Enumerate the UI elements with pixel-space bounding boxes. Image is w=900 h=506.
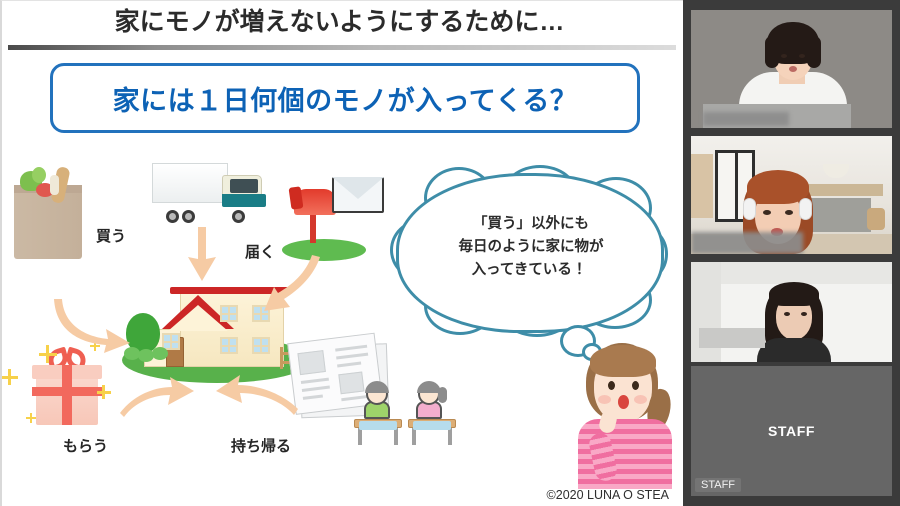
sparkle-icon (2, 376, 18, 379)
meeting-screen: 家にモノが増えないようにするために… 家には１日何個のモノが入ってくる？ (0, 0, 900, 506)
staff-center-label: STAFF (691, 423, 892, 439)
label-bring-home: 持ち帰る (231, 435, 291, 456)
label-receive: もらう (63, 435, 108, 456)
thinking-woman-icon (570, 337, 678, 489)
label-deliver: 届く (245, 241, 275, 262)
sparkle-icon (90, 345, 100, 347)
thought-line-2: 毎日のように家に物が (410, 236, 652, 259)
video-tile-participant-1[interactable] (691, 10, 892, 128)
sparkle-icon (97, 391, 111, 394)
thought-line-1: 「買う」以外にも (410, 213, 652, 236)
sparkle-icon (26, 417, 36, 419)
sparkle-icon (39, 353, 57, 356)
students-at-desks-icon (354, 379, 464, 445)
house-icon (122, 271, 312, 383)
shared-slide: 家にモノが増えないようにするために… 家には１日何個のモノが入ってくる？ (0, 0, 683, 506)
gift-box-icon (26, 349, 112, 431)
grocery-bag-icon (14, 167, 86, 259)
video-tile-staff[interactable]: STAFF STAFF (691, 366, 892, 496)
copyright-text: ©2020 LUNA O STEA (547, 488, 669, 502)
participant-video-rail: STAFF STAFF (683, 0, 900, 506)
thought-bubble-text: 「買う」以外にも 毎日のように家に物が 入ってきている ！ (410, 213, 652, 282)
label-buy: 買う (96, 225, 126, 246)
envelope-icon (332, 177, 384, 213)
delivery-truck-icon (152, 161, 270, 223)
slide-title: 家にモノが増えないようにするために… (2, 5, 677, 39)
staff-name-tag: STAFF (695, 478, 741, 492)
flow-diagram: 「買う」以外にも 毎日のように家に物が 入ってきている ！ (2, 141, 683, 506)
question-box: 家には１日何個のモノが入ってくる？ (50, 63, 640, 133)
mailbox-icon (282, 177, 372, 261)
title-divider (8, 45, 676, 50)
question-text: 家には１日何個のモノが入ってくる？ (113, 79, 578, 118)
thought-bubble: 「買う」以外にも 毎日のように家に物が 入ってきている ！ (390, 167, 672, 363)
video-tile-participant-3[interactable] (691, 262, 892, 362)
thought-line-3: 入ってきている ！ (410, 259, 652, 282)
video-tile-participant-2[interactable] (691, 136, 892, 254)
